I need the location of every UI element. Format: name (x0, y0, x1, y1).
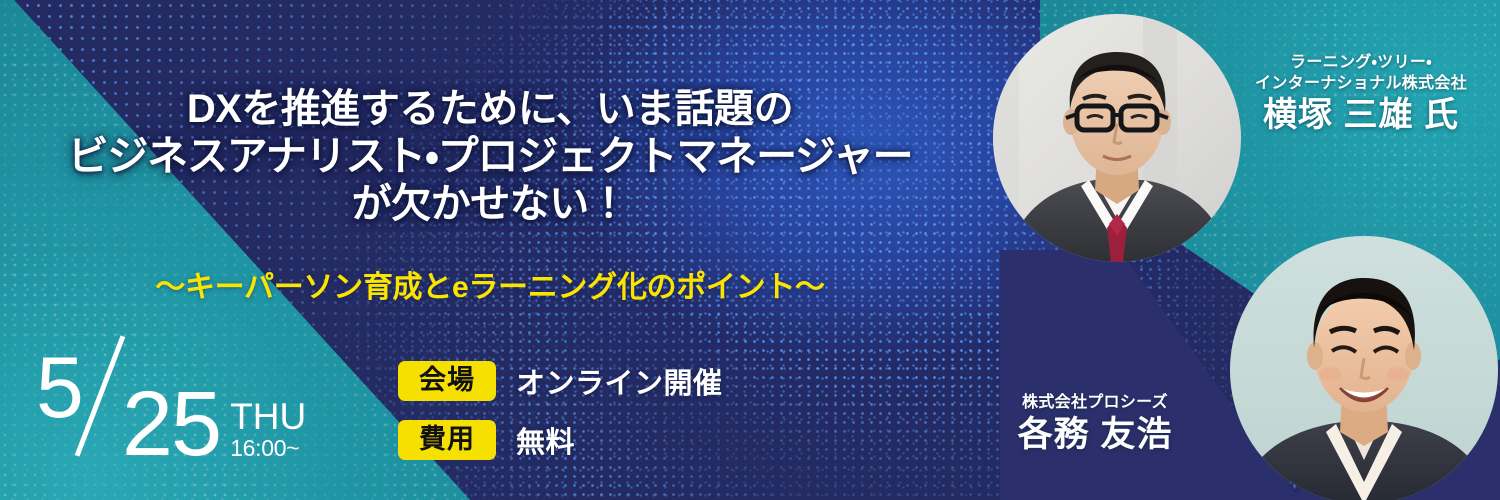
speaker-caption-1: ラーニング・ツリー・ インターナショナル株式会社 横塚 三雄 氏 (1222, 52, 1500, 135)
title-line-2: ビジネスアナリスト・プロジェクトマネージャー (0, 133, 980, 181)
info-value-venue: オンライン開催 (516, 360, 723, 402)
info-row-venue: 会場 オンライン開催 (398, 360, 723, 402)
info-badge-cost: 費用 (398, 420, 496, 460)
date-start-time: 16:00~ (230, 437, 306, 460)
info-badge-venue: 会場 (398, 361, 496, 401)
speaker-2-name: 各務 友浩 (960, 416, 1230, 455)
speaker-1-org-line-2: インターナショナル株式会社 (1222, 73, 1500, 94)
info-value-cost: 無料 (516, 419, 575, 461)
info-row-cost: 費用 無料 (398, 419, 723, 461)
page-title: DXを推進するために、いま話題の ビジネスアナリスト・プロジェクトマネージャー … (0, 86, 980, 228)
speaker-photo-yokozuka (993, 14, 1241, 262)
event-date: 5 25 THU 16:00~ (36, 330, 306, 464)
event-info-list: 会場 オンライン開催 費用 無料 (398, 360, 723, 478)
seminar-banner: DXを推進するために、いま話題の ビジネスアナリスト・プロジェクトマネージャー … (0, 0, 1500, 500)
title-line-3: が欠かせない！ (0, 181, 980, 228)
speaker-caption-2: 株式会社プロシーズ 各務 友浩 (960, 392, 1230, 455)
date-meta: THU 16:00~ (230, 398, 306, 460)
title-line-1: DXを推進するために、いま話題の (0, 86, 980, 133)
speaker-1-org-line-1: ラーニング・ツリー・ (1222, 52, 1500, 73)
speaker-photo-kagami (1230, 236, 1498, 500)
subtitle: 〜キーパーソン育成とeラーニング化のポイント〜 (0, 262, 980, 306)
date-slash-icon (72, 330, 128, 462)
date-day-of-week: THU (230, 398, 306, 435)
speaker-1-name: 横塚 三雄 氏 (1222, 97, 1500, 134)
speaker-2-org-line-1: 株式会社プロシーズ (960, 392, 1230, 413)
date-day: 25 (122, 385, 220, 464)
